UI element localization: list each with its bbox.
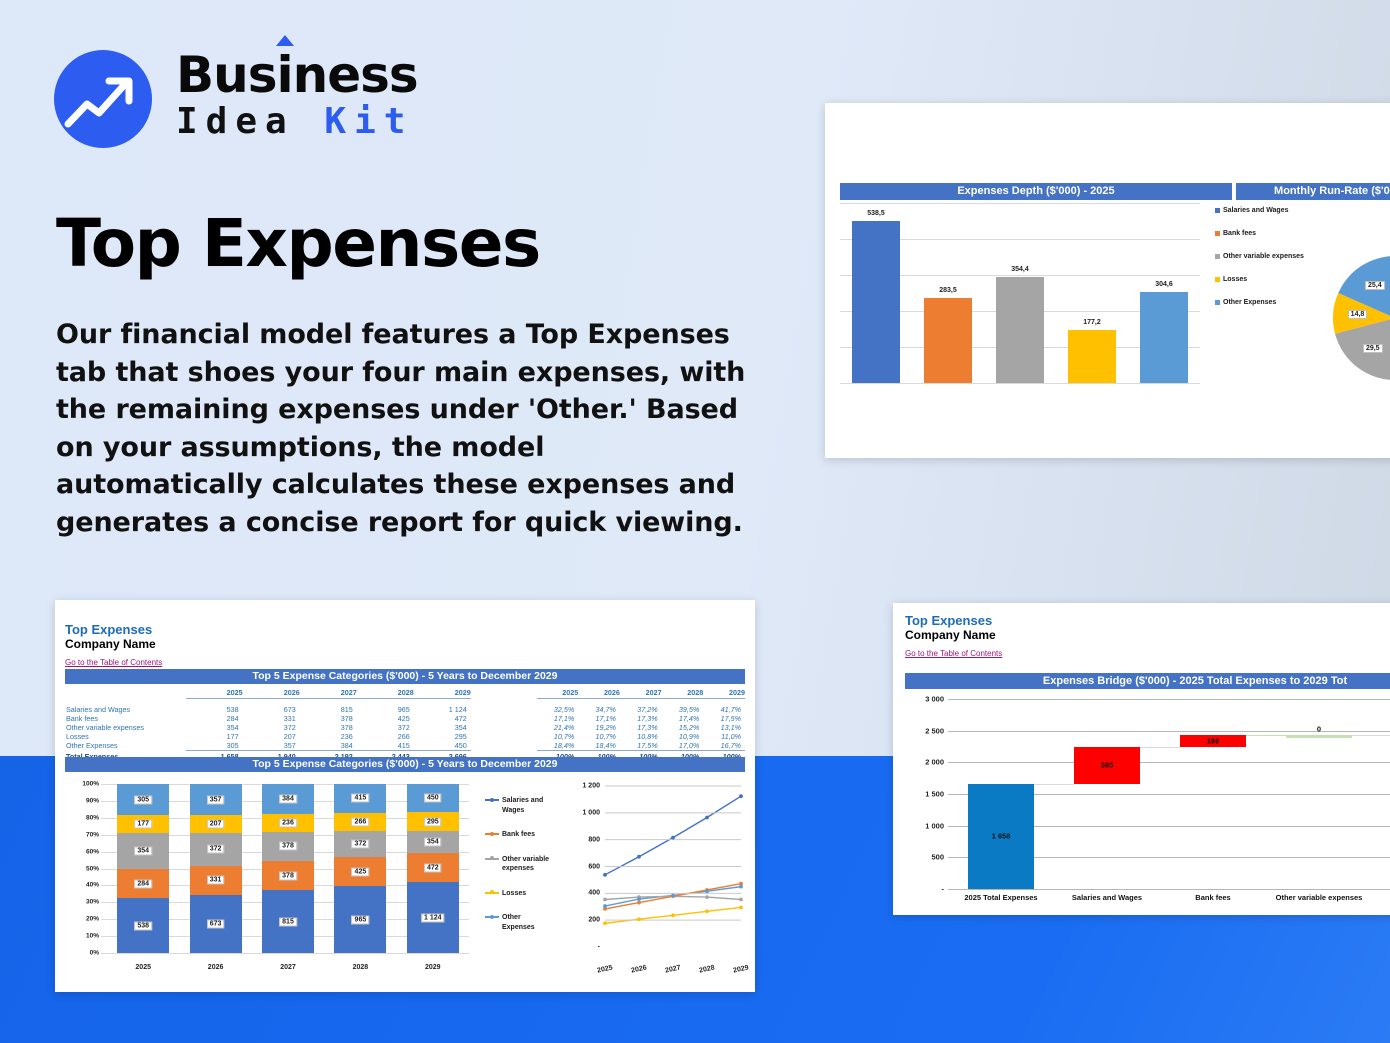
bar-value-label: 538,5 xyxy=(840,210,912,217)
x-axis-tick-label: Salaries and Wages xyxy=(1054,893,1160,902)
stack-segment-other-expenses: 384 xyxy=(262,784,314,814)
y-axis-tick-label: 50% xyxy=(69,865,99,872)
row-label: Other Expenses xyxy=(65,741,186,751)
y-axis-tick-label: 90% xyxy=(69,797,99,804)
logo-word-business: Business xyxy=(176,48,418,102)
legend-label: Bank fees xyxy=(502,830,535,840)
data-point xyxy=(739,906,743,910)
stack-segment-salaries-and-wages: 815 xyxy=(262,890,314,953)
legend-swatch-icon xyxy=(1215,254,1220,259)
expense-trend-line-chart: 2004006008001 0001 200-20252026202720282… xyxy=(575,780,745,975)
panel-top5-expense-categories: Top Expenses Company Name Go to the Tabl… xyxy=(55,600,755,992)
x-axis-tick-label: 2029 xyxy=(397,964,469,971)
cell-value: 331 xyxy=(243,714,300,723)
cell-value: 207 xyxy=(243,732,300,741)
sheet-subtitle: Company Name xyxy=(905,628,1002,643)
segment-value-label: 372 xyxy=(352,839,370,848)
panel-a-banner-row: Expenses Depth ($'000) - 2025 Monthly Ru… xyxy=(840,183,1390,200)
stack-segment-other-variable-expenses: 354 xyxy=(407,831,459,853)
y-axis-tick-label: 1 500 xyxy=(925,790,944,799)
cell-value: 372 xyxy=(243,723,300,732)
segment-value-label: 472 xyxy=(424,863,442,872)
data-point xyxy=(603,873,607,877)
stack-segment-losses: 266 xyxy=(334,813,386,831)
cell-percent: 17,1% xyxy=(578,714,620,723)
column-header: 2025 xyxy=(537,688,579,699)
banner-categories-chart: Top 5 Expense Categories ($'000) - 5 Yea… xyxy=(65,757,745,772)
legend-item: Bank fees xyxy=(485,830,551,840)
legend-label: Losses xyxy=(502,889,526,899)
logo-word-idea: Idea xyxy=(176,101,295,142)
sheet-subtitle: Company Name xyxy=(65,637,162,652)
cell-value: 378 xyxy=(300,723,357,732)
cell-value: 472 xyxy=(414,714,471,723)
cell-percent: 17,5% xyxy=(703,714,745,723)
y-axis-tick-label: 800 xyxy=(575,836,600,843)
segment-value-label: 357 xyxy=(207,795,225,804)
cell-percent: 18,4% xyxy=(578,741,620,751)
y-axis-tick-label: 80% xyxy=(69,814,99,821)
data-point xyxy=(739,898,743,902)
segment-value-label: 305 xyxy=(134,795,152,804)
data-point xyxy=(705,909,709,913)
cell-percent: 10,7% xyxy=(578,732,620,741)
data-point xyxy=(705,895,709,899)
y-axis-tick-label: 2 500 xyxy=(925,726,944,735)
panel-expenses-depth: Expenses Depth ($'000) - 2025 Monthly Ru… xyxy=(825,103,1390,458)
cell-value: 177 xyxy=(186,732,243,741)
stack-column-2025: 305177354284538 xyxy=(117,784,169,953)
sheet-header-bridge: Top Expenses Company Name Go to the Tabl… xyxy=(905,613,1002,661)
data-point xyxy=(637,901,641,905)
segment-value-label: 1 124 xyxy=(421,913,445,922)
cell-percent: 17,0% xyxy=(662,741,704,751)
segment-value-label: 177 xyxy=(134,820,152,829)
grid-line xyxy=(948,889,1390,890)
y-axis-tick-label: 1 000 xyxy=(925,821,944,830)
cell-value: 1 124 xyxy=(414,705,471,714)
segment-value-label: 372 xyxy=(207,845,225,854)
cell-percent: 21,4% xyxy=(537,723,579,732)
x-axis-tick-label: 2025 xyxy=(107,964,179,971)
cell-value: 450 xyxy=(414,741,471,751)
waterfall-connector xyxy=(1246,735,1286,736)
page-description: Our financial model features a Top Expen… xyxy=(56,316,756,541)
stack-segment-bank-fees: 284 xyxy=(117,869,169,898)
growth-arrow-icon xyxy=(54,50,152,148)
legend-label: Losses xyxy=(1223,275,1247,284)
expenses-depth-legend: Salaries and WagesBank feesOther variabl… xyxy=(1215,206,1315,321)
stack-column-2029: 4502953544721 124 xyxy=(407,784,459,953)
stack-segment-salaries-and-wages: 965 xyxy=(334,886,386,953)
legend-line-icon xyxy=(485,833,499,835)
y-axis-tick-label: - xyxy=(942,885,945,894)
bar-other-expenses xyxy=(1140,292,1188,383)
waterfall-bar-2025-total-expenses: 1 658 xyxy=(968,784,1034,889)
legend-swatch-icon xyxy=(1215,300,1220,305)
y-axis-tick-label: 2 000 xyxy=(925,758,944,767)
cell-percent: 37,2% xyxy=(620,705,662,714)
legend-item: Other variable expenses xyxy=(485,855,551,874)
cell-value: 965 xyxy=(357,705,414,714)
data-point xyxy=(739,885,743,889)
cell-percent: 13,1% xyxy=(703,723,745,732)
stack-segment-salaries-and-wages: 1 124 xyxy=(407,882,459,952)
stack-segment-salaries-and-wages: 673 xyxy=(190,895,242,954)
column-header: 2029 xyxy=(703,688,745,699)
x-axis-tick-label: Other variable expenses xyxy=(1266,893,1372,902)
waterfall-bar-bank-fees: 189 xyxy=(1180,735,1246,747)
stack-segment-other-expenses: 450 xyxy=(407,784,459,812)
stack-segment-other-variable-expenses: 372 xyxy=(334,831,386,857)
column-header: 2028 xyxy=(662,688,704,699)
data-point xyxy=(705,816,709,820)
grid-line xyxy=(840,383,1200,384)
x-axis-tick-label: 2026 xyxy=(179,964,251,971)
panel-expenses-bridge: Top Expenses Company Name Go to the Tabl… xyxy=(893,603,1390,915)
legend-line-icon xyxy=(485,892,499,894)
stack-segment-losses: 236 xyxy=(262,814,314,832)
legend-item: Salaries and Wages xyxy=(485,796,551,815)
stack-segment-other-variable-expenses: 372 xyxy=(190,833,242,865)
table-header-row: 2025202620272028202920252026202720282029 xyxy=(65,688,745,699)
pie-value-label: 25,4 xyxy=(1365,281,1385,290)
table-row: Salaries and Wages5386738159651 12432,5%… xyxy=(65,705,745,714)
cell-value: 357 xyxy=(243,741,300,751)
stack-segment-other-variable-expenses: 354 xyxy=(117,833,169,869)
banner-expenses-depth: Expenses Depth ($'000) - 2025 xyxy=(840,183,1232,200)
y-axis-tick-label: 20% xyxy=(69,916,99,923)
y-axis-tick-label: 1 200 xyxy=(575,783,600,790)
row-label: Losses xyxy=(65,732,186,741)
column-header: 2027 xyxy=(620,688,662,699)
cell-value: 354 xyxy=(186,723,243,732)
sheet-title: Top Expenses xyxy=(905,613,1002,628)
x-axis-tick-label: 2027 xyxy=(252,964,324,971)
cell-percent: 19,2% xyxy=(578,723,620,732)
cell-percent: 17,1% xyxy=(537,714,579,723)
data-point xyxy=(671,894,675,898)
column-header: 2026 xyxy=(578,688,620,699)
column-header: 2029 xyxy=(414,688,471,699)
legend-line-icon xyxy=(485,916,499,918)
x-axis-tick-label: 2025 Total Expenses xyxy=(948,893,1054,902)
segment-value-label: 354 xyxy=(134,847,152,856)
grid-line xyxy=(948,699,1390,700)
cell-value: 415 xyxy=(357,741,414,751)
bar-value-label: 283,5 xyxy=(912,287,984,294)
monthly-run-rate-pie-chart: 2329,514,825,4 xyxy=(1320,243,1390,393)
stack-segment-salaries-and-wages: 538 xyxy=(117,898,169,953)
stack-segment-other-expenses: 415 xyxy=(334,784,386,813)
data-point xyxy=(637,917,641,921)
cell-percent: 17,3% xyxy=(620,723,662,732)
segment-value-label: 207 xyxy=(207,820,225,829)
stack-segment-other-expenses: 305 xyxy=(117,784,169,815)
bar-other-variable-expenses xyxy=(996,277,1044,383)
banner-categories-table: Top 5 Expense Categories ($'000) - 5 Yea… xyxy=(65,669,745,684)
bar-salaries-and-wages xyxy=(852,221,900,383)
table-of-contents-link[interactable]: Go to the Table of Contents xyxy=(65,657,162,668)
legend-swatch-icon xyxy=(1215,208,1220,213)
legend-line-icon xyxy=(485,858,499,860)
y-axis-tick-label: 70% xyxy=(69,831,99,838)
grid-line xyxy=(948,731,1390,732)
data-point xyxy=(603,904,607,908)
y-axis-tick-label: 10% xyxy=(69,933,99,940)
data-point xyxy=(603,921,607,925)
waterfall-connector xyxy=(1034,784,1074,785)
cell-percent: 11,0% xyxy=(703,732,745,741)
cell-percent: 18,4% xyxy=(537,741,579,751)
stack-segment-losses: 295 xyxy=(407,812,459,831)
pie-value-label: 14,8 xyxy=(1348,310,1368,319)
column-header: 2025 xyxy=(186,688,243,699)
cell-percent: 34,7% xyxy=(578,705,620,714)
segment-value-label: 378 xyxy=(279,871,297,880)
y-axis-zero-tick: - xyxy=(575,944,600,951)
column-header: 2028 xyxy=(357,688,414,699)
stack-segment-bank-fees: 331 xyxy=(190,866,242,895)
segment-value-label: 425 xyxy=(352,867,370,876)
cell-value: 295 xyxy=(414,732,471,741)
cell-percent: 17,4% xyxy=(662,714,704,723)
cell-value: 673 xyxy=(243,705,300,714)
stacked-bar-chart: 0%10%20%30%40%50%60%70%80%90%100%3051773… xyxy=(69,780,469,975)
cell-value: 372 xyxy=(357,723,414,732)
data-point xyxy=(671,836,675,840)
y-axis-tick-label: 500 xyxy=(931,853,944,862)
segment-value-label: 815 xyxy=(279,917,297,926)
cell-value: 378 xyxy=(300,714,357,723)
data-point xyxy=(603,898,607,902)
y-axis-tick-label: 40% xyxy=(69,882,99,889)
brand-logo: Business Idea Kit xyxy=(54,48,454,148)
segment-value-label: 673 xyxy=(207,919,225,928)
waterfall-connector xyxy=(1140,747,1180,748)
line-chart-legend: Salaries and WagesBank feesOther variabl… xyxy=(485,796,551,947)
cell-percent: 16,7% xyxy=(703,741,745,751)
y-axis-tick-label: 200 xyxy=(575,917,600,924)
legend-label: Bank fees xyxy=(1223,229,1256,238)
expenses-bridge-waterfall-chart: -5001 0001 5002 0002 5003 0001 6582025 T… xyxy=(948,699,1390,889)
cell-percent: 10,7% xyxy=(537,732,579,741)
stack-segment-other-variable-expenses: 378 xyxy=(262,832,314,861)
pie-value-label: 29,5 xyxy=(1363,344,1383,353)
legend-item: Bank fees xyxy=(1215,229,1315,238)
segment-value-label: 538 xyxy=(134,921,152,930)
table-of-contents-link[interactable]: Go to the Table of Contents xyxy=(905,648,1002,659)
logo-word-kit: Kit xyxy=(324,101,413,142)
legend-label: Salaries and Wages xyxy=(1223,206,1289,215)
segment-value-label: 450 xyxy=(424,794,442,803)
grid-line xyxy=(948,762,1390,763)
bar-value-label: 1 658 xyxy=(992,832,1011,841)
banner-monthly-run-rate: Monthly Run-Rate ($'000 xyxy=(1236,183,1390,200)
bar-losses xyxy=(1068,330,1116,383)
legend-item: Other variable expenses xyxy=(1215,252,1315,261)
stack-column-2027: 384236378378815 xyxy=(262,784,314,953)
y-axis-tick-label: 600 xyxy=(575,863,600,870)
data-point xyxy=(671,913,675,917)
banner-expenses-bridge: Expenses Bridge ($'000) - 2025 Total Exp… xyxy=(905,673,1390,689)
line-series-salaries-and-wages xyxy=(605,796,741,875)
y-axis-tick-label: 3 000 xyxy=(925,695,944,704)
segment-value-label: 295 xyxy=(424,817,442,826)
legend-item: Other Expenses xyxy=(485,913,551,932)
stack-segment-losses: 177 xyxy=(117,815,169,833)
x-axis-tick-label: 2028 xyxy=(324,964,396,971)
segment-value-label: 415 xyxy=(352,794,370,803)
cell-percent: 39,5% xyxy=(662,705,704,714)
expense-categories-table: 2025202620272028202920252026202720282029… xyxy=(65,688,745,761)
y-axis-tick-label: 60% xyxy=(69,848,99,855)
segment-value-label: 354 xyxy=(424,837,442,846)
cell-value: 236 xyxy=(300,732,357,741)
data-point xyxy=(637,855,641,859)
segment-value-label: 965 xyxy=(352,915,370,924)
sheet-title: Top Expenses xyxy=(65,622,162,637)
stack-segment-bank-fees: 472 xyxy=(407,853,459,883)
y-axis-tick-label: 30% xyxy=(69,899,99,906)
segment-value-label: 384 xyxy=(279,794,297,803)
cell-percent: 17,3% xyxy=(620,714,662,723)
stack-column-2026: 357207372331673 xyxy=(190,784,242,953)
bar-value-label: 585 xyxy=(1101,761,1114,770)
stack-segment-losses: 207 xyxy=(190,815,242,833)
waterfall-bar-salaries-and-wages: 585 xyxy=(1074,747,1140,784)
data-point xyxy=(705,889,709,893)
legend-swatch-icon xyxy=(1215,231,1220,236)
segment-value-label: 266 xyxy=(352,817,370,826)
y-axis-tick-label: 100% xyxy=(69,781,99,788)
cell-value: 354 xyxy=(414,723,471,732)
cell-value: 266 xyxy=(357,732,414,741)
grid-line xyxy=(840,203,1200,204)
x-axis-tick-label: Bank fees xyxy=(1160,893,1266,902)
stack-segment-bank-fees: 425 xyxy=(334,857,386,886)
segment-value-label: 331 xyxy=(207,876,225,885)
bar-value-label: 304,6 xyxy=(1128,281,1200,288)
cell-percent: 41,7% xyxy=(703,705,745,714)
stack-segment-bank-fees: 378 xyxy=(262,861,314,890)
x-axis-tick-label: Losses xyxy=(1372,893,1390,902)
legend-item: Losses xyxy=(1215,275,1315,284)
cell-value: 305 xyxy=(186,741,243,751)
waterfall-bar-other-variable-expenses: 0 xyxy=(1286,735,1352,738)
bar-value-label: 0 xyxy=(1317,724,1321,733)
stack-column-2028: 415266372425965 xyxy=(334,784,386,953)
waterfall-connector xyxy=(1352,735,1390,736)
grid-line xyxy=(101,953,469,954)
bar-value-label: 354,4 xyxy=(984,266,1056,273)
sheet-header-categories: Top Expenses Company Name Go to the Tabl… xyxy=(65,622,162,670)
legend-label: Other variable expenses xyxy=(502,855,551,874)
legend-item: Salaries and Wages xyxy=(1215,206,1315,215)
legend-label: Salaries and Wages xyxy=(502,796,551,815)
cell-value: 538 xyxy=(186,705,243,714)
row-label: Other variable expenses xyxy=(65,723,186,732)
cell-percent: 32,5% xyxy=(537,705,579,714)
table-row: Losses17720723626629510,7%10,7%10,8%10,9… xyxy=(65,732,745,741)
segment-value-label: 236 xyxy=(279,818,297,827)
row-label: Salaries and Wages xyxy=(65,705,186,714)
bar-value-label: 189 xyxy=(1207,736,1220,745)
legend-label: Other Expenses xyxy=(1223,298,1276,307)
data-point xyxy=(637,897,641,901)
cell-value: 425 xyxy=(357,714,414,723)
table-row: Other variable expenses35437237837235421… xyxy=(65,723,745,732)
stack-segment-other-expenses: 357 xyxy=(190,784,242,815)
column-header: 2026 xyxy=(243,688,300,699)
table-row: Bank fees28433137842547217,1%17,1%17,3%1… xyxy=(65,714,745,723)
table-row: Other Expenses30535738441545018,4%18,4%1… xyxy=(65,741,745,751)
legend-label: Other variable expenses xyxy=(1223,252,1304,261)
data-point xyxy=(739,794,743,798)
legend-label: Other Expenses xyxy=(502,913,551,932)
legend-item: Losses xyxy=(485,889,551,899)
y-axis-tick-label: 0% xyxy=(69,950,99,957)
segment-value-label: 378 xyxy=(279,842,297,851)
cell-percent: 10,8% xyxy=(620,732,662,741)
y-axis-tick-label: 400 xyxy=(575,890,600,897)
column-header: 2027 xyxy=(300,688,357,699)
bar-bank-fees xyxy=(924,298,972,383)
legend-line-icon xyxy=(485,799,499,801)
legend-item: Other Expenses xyxy=(1215,298,1315,307)
cell-value: 815 xyxy=(300,705,357,714)
cell-percent: 15,2% xyxy=(662,723,704,732)
y-axis-tick-label: 1 000 xyxy=(575,809,600,816)
bar-value-label: 177,2 xyxy=(1056,319,1128,326)
legend-swatch-icon xyxy=(1215,277,1220,282)
segment-value-label: 284 xyxy=(134,879,152,888)
cell-value: 384 xyxy=(300,741,357,751)
row-label: Bank fees xyxy=(65,714,186,723)
cell-percent: 10,9% xyxy=(662,732,704,741)
page-title: Top Expenses xyxy=(56,206,540,282)
expenses-depth-bar-chart: 538,5283,5354,4177,2304,6 xyxy=(840,203,1200,383)
cell-percent: 17,5% xyxy=(620,741,662,751)
cell-value: 284 xyxy=(186,714,243,723)
